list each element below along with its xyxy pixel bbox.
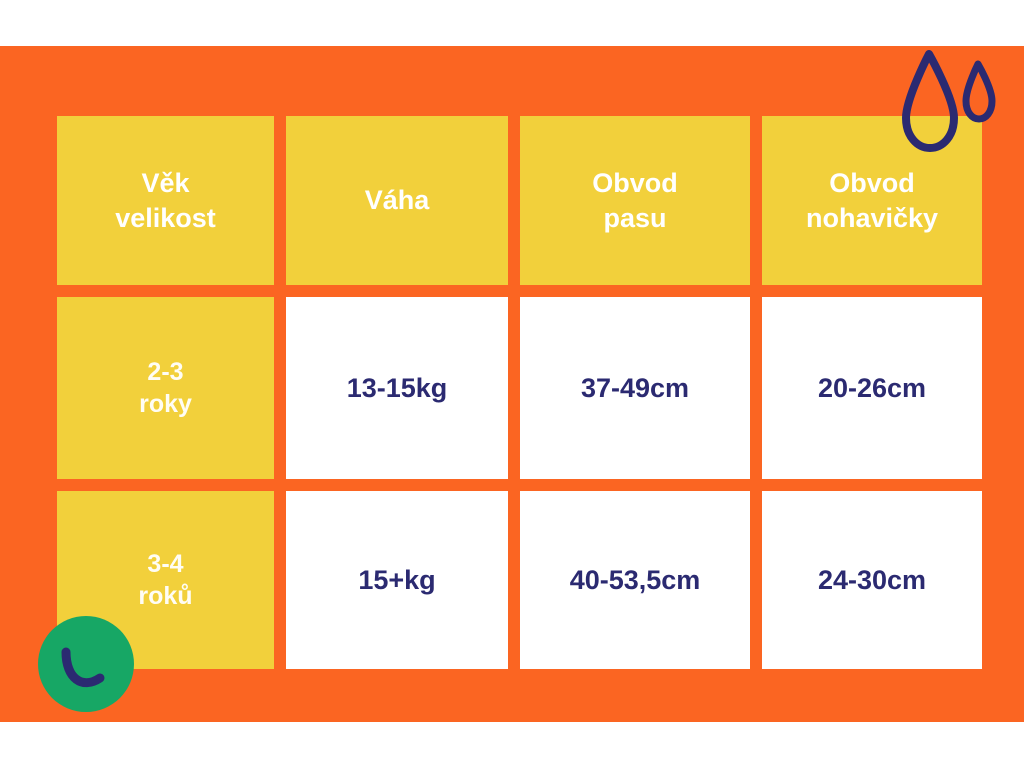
table-cell-leg-1: 24-30cm — [762, 491, 982, 669]
poster-canvas: Věk velikost Váha Obvod pasu Obvod nohav… — [0, 0, 1024, 768]
cell-value-waist-0: 37-49cm — [581, 371, 689, 406]
table-cell-waist-0: 37-49cm — [520, 297, 750, 479]
cell-value-leg-1: 24-30cm — [818, 563, 926, 598]
cell-value-weight-1: 15+kg — [358, 563, 435, 598]
header-label-waist: Obvod pasu — [592, 166, 678, 235]
cell-value-leg-0: 20-26cm — [818, 371, 926, 406]
table-row-label-0: 2-3 roky — [57, 297, 274, 479]
cell-value-weight-0: 13-15kg — [347, 371, 448, 406]
smiley-mouth-shape — [38, 616, 134, 712]
row-label-text-0: 2-3 roky — [139, 356, 192, 420]
header-label-leg: Obvod nohavičky — [806, 166, 938, 235]
header-label-weight: Váha — [365, 183, 430, 218]
table-header-cell-waist: Obvod pasu — [520, 116, 750, 285]
table-cell-leg-0: 20-26cm — [762, 297, 982, 479]
smiley-face-icon — [38, 616, 134, 712]
row-label-text-1: 3-4 roků — [138, 548, 192, 612]
table-header-cell-weight: Váha — [286, 116, 508, 285]
table-header-cell-leg: Obvod nohavičky — [762, 116, 982, 285]
table-cell-waist-1: 40-53,5cm — [520, 491, 750, 669]
size-chart-table: Věk velikost Váha Obvod pasu Obvod nohav… — [57, 116, 958, 669]
smile-arc — [66, 652, 100, 683]
cell-value-waist-1: 40-53,5cm — [570, 563, 701, 598]
table-cell-weight-0: 13-15kg — [286, 297, 508, 479]
header-label-age: Věk velikost — [115, 166, 216, 235]
table-header-cell-age: Věk velikost — [57, 116, 274, 285]
table-cell-weight-1: 15+kg — [286, 491, 508, 669]
